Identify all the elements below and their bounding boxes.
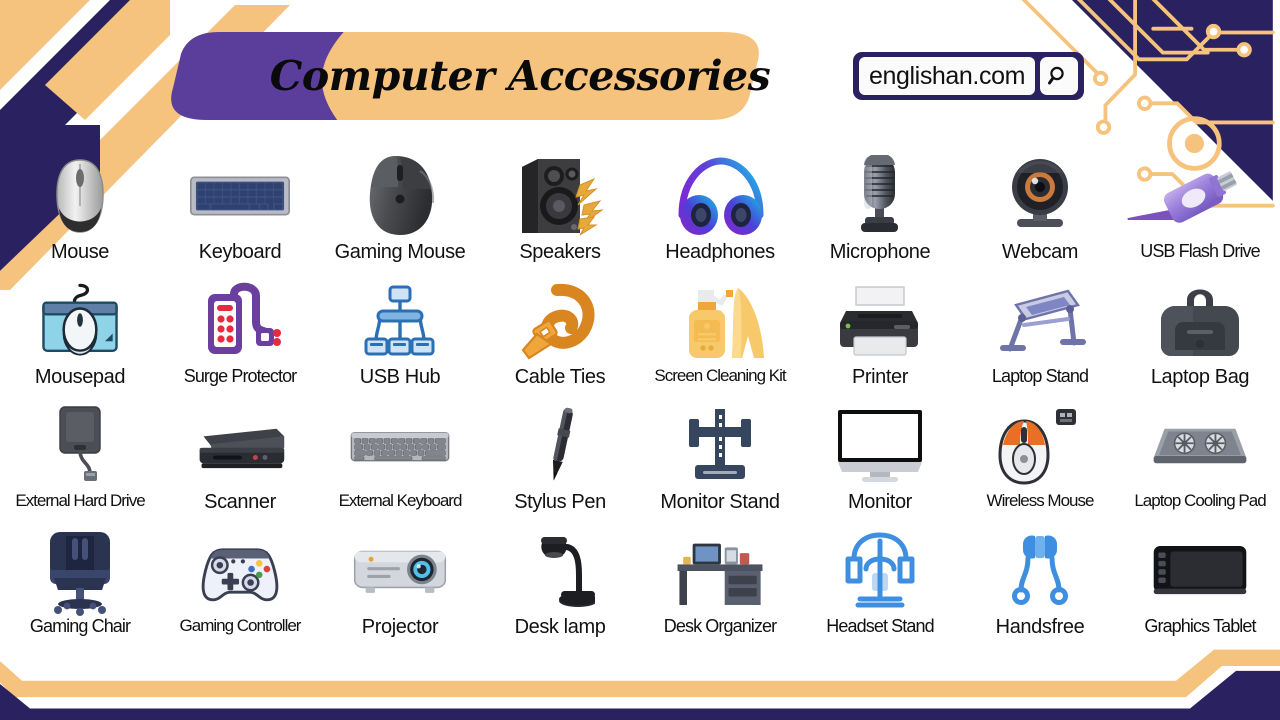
grid-item-label: External Hard Drive [15, 492, 144, 509]
grid-item-monitor-stand[interactable]: Monitor Stand [640, 398, 800, 523]
headphones-icon [670, 152, 770, 240]
grid-item-label: USB Hub [360, 367, 441, 387]
scanner-icon [190, 402, 290, 490]
grid-item-label: Monitor Stand [660, 492, 779, 512]
grid-item-label: Desk Organizer [664, 617, 776, 635]
grid-item-surge-protector[interactable]: Surge Protector [160, 273, 320, 398]
desk-lamp-icon [510, 527, 610, 615]
infographic-canvas: Computer Accessories englishan.com [0, 0, 1280, 720]
grid-item-external-hard-drive[interactable]: External Hard Drive [0, 398, 160, 523]
grid-item-label: Gaming Controller [180, 617, 301, 634]
external-keyboard-icon [350, 402, 450, 490]
grid-item-label: Surge Protector [184, 367, 297, 385]
stylus-pen-icon [510, 402, 610, 490]
grid-item-label: Laptop Bag [1151, 367, 1249, 387]
printer-icon [830, 277, 930, 365]
grid-item-desk-lamp[interactable]: Desk lamp [480, 523, 640, 648]
grid-item-label: Microphone [830, 242, 931, 262]
grid-item-monitor[interactable]: Monitor [800, 398, 960, 523]
grid-item-label: Cable Ties [515, 367, 606, 387]
graphics-tablet-icon [1150, 527, 1250, 615]
grid-item-microphone[interactable]: Microphone [800, 148, 960, 273]
monitor-stand-icon [670, 402, 770, 490]
grid-item-laptop-stand[interactable]: Laptop Stand [960, 273, 1120, 398]
grid-item-label: Laptop Stand [992, 367, 1088, 385]
grid-item-label: Projector [362, 617, 438, 637]
grid-item-printer[interactable]: Printer [800, 273, 960, 398]
grid-item-headphones[interactable]: Headphones [640, 148, 800, 273]
grid-item-label: Headphones [665, 242, 774, 262]
grid-item-label: Wireless Mouse [987, 492, 1094, 509]
desk-organizer-icon [670, 527, 770, 615]
grid-item-label: Scanner [204, 492, 276, 512]
grid-item-label: Headset Stand [826, 617, 933, 635]
grid-item-label: Monitor [848, 492, 912, 512]
grid-item-screen-cleaning-kit[interactable]: Screen Cleaning Kit [640, 273, 800, 398]
projector-icon [350, 527, 450, 615]
grid-item-label: Desk lamp [515, 617, 606, 637]
usb-flash-drive-icon [1150, 152, 1250, 240]
grid-item-webcam[interactable]: Webcam [960, 148, 1120, 273]
grid-item-laptop-cooling-pad[interactable]: Laptop Cooling Pad [1120, 398, 1280, 523]
mouse-icon [30, 152, 130, 240]
webcam-icon [990, 152, 1090, 240]
grid-item-label: Graphics Tablet [1144, 617, 1255, 635]
grid-item-headset-stand[interactable]: Headset Stand [800, 523, 960, 648]
cable-ties-icon [510, 277, 610, 365]
monitor-icon [830, 402, 930, 490]
mousepad-icon [30, 277, 130, 365]
gaming-chair-icon [30, 527, 130, 615]
accessories-grid: Mouse [0, 148, 1280, 648]
grid-item-label: Speakers [519, 242, 600, 262]
wireless-mouse-icon [990, 402, 1090, 490]
grid-item-usb-flash-drive[interactable]: USB Flash Drive [1120, 148, 1280, 273]
grid-item-mousepad[interactable]: Mousepad [0, 273, 160, 398]
grid-item-laptop-bag[interactable]: Laptop Bag [1120, 273, 1280, 398]
grid-item-label: Gaming Chair [30, 617, 130, 635]
magnifier-icon[interactable] [1040, 57, 1078, 95]
grid-item-label: Mouse [51, 242, 109, 262]
external-hard-drive-icon [30, 402, 130, 490]
speakers-icon [510, 152, 610, 240]
brand-name: englishan.com [859, 57, 1035, 95]
grid-item-scanner[interactable]: Scanner [160, 398, 320, 523]
grid-item-label: Screen Cleaning Kit [654, 367, 785, 384]
grid-item-gaming-controller[interactable]: Gaming Controller [160, 523, 320, 648]
handsfree-icon [990, 527, 1090, 615]
grid-item-external-keyboard[interactable]: External Keyboard [320, 398, 480, 523]
grid-item-gaming-mouse[interactable]: Gaming Mouse [320, 148, 480, 273]
grid-item-usb-hub[interactable]: USB Hub [320, 273, 480, 398]
grid-item-label: Handsfree [996, 617, 1085, 637]
laptop-cooling-pad-icon [1150, 402, 1250, 490]
surge-protector-icon [190, 277, 290, 365]
gaming-controller-icon [190, 527, 290, 615]
laptop-stand-icon [990, 277, 1090, 365]
grid-item-label: Stylus Pen [514, 492, 606, 512]
grid-item-projector[interactable]: Projector [320, 523, 480, 648]
grid-item-cable-ties[interactable]: Cable Ties [480, 273, 640, 398]
grid-item-label: External Keyboard [339, 492, 462, 509]
grid-item-label: Printer [852, 367, 908, 387]
screen-cleaning-kit-icon [670, 277, 770, 365]
grid-item-graphics-tablet[interactable]: Graphics Tablet [1120, 523, 1280, 648]
grid-item-label: USB Flash Drive [1140, 242, 1260, 260]
grid-item-keyboard[interactable]: Keyboard [160, 148, 320, 273]
grid-item-stylus-pen[interactable]: Stylus Pen [480, 398, 640, 523]
grid-item-speakers[interactable]: Speakers [480, 148, 640, 273]
grid-item-label: Keyboard [199, 242, 281, 262]
microphone-icon [830, 152, 930, 240]
grid-item-label: Laptop Cooling Pad [1134, 492, 1265, 509]
grid-item-label: Webcam [1002, 242, 1078, 262]
grid-item-label: Gaming Mouse [335, 242, 466, 262]
usb-hub-icon [350, 277, 450, 365]
grid-item-desk-organizer[interactable]: Desk Organizer [640, 523, 800, 648]
grid-item-handsfree[interactable]: Handsfree [960, 523, 1120, 648]
grid-item-gaming-chair[interactable]: Gaming Chair [0, 523, 160, 648]
page-title: Computer Accessories [163, 32, 767, 120]
gaming-mouse-icon [350, 152, 450, 240]
brand-logo[interactable]: englishan.com [853, 52, 1084, 100]
laptop-bag-icon [1150, 277, 1250, 365]
grid-item-label: Mousepad [35, 367, 125, 387]
grid-item-wireless-mouse[interactable]: Wireless Mouse [960, 398, 1120, 523]
headset-stand-icon [830, 527, 930, 615]
grid-item-mouse[interactable]: Mouse [0, 148, 160, 273]
keyboard-icon [190, 152, 290, 240]
